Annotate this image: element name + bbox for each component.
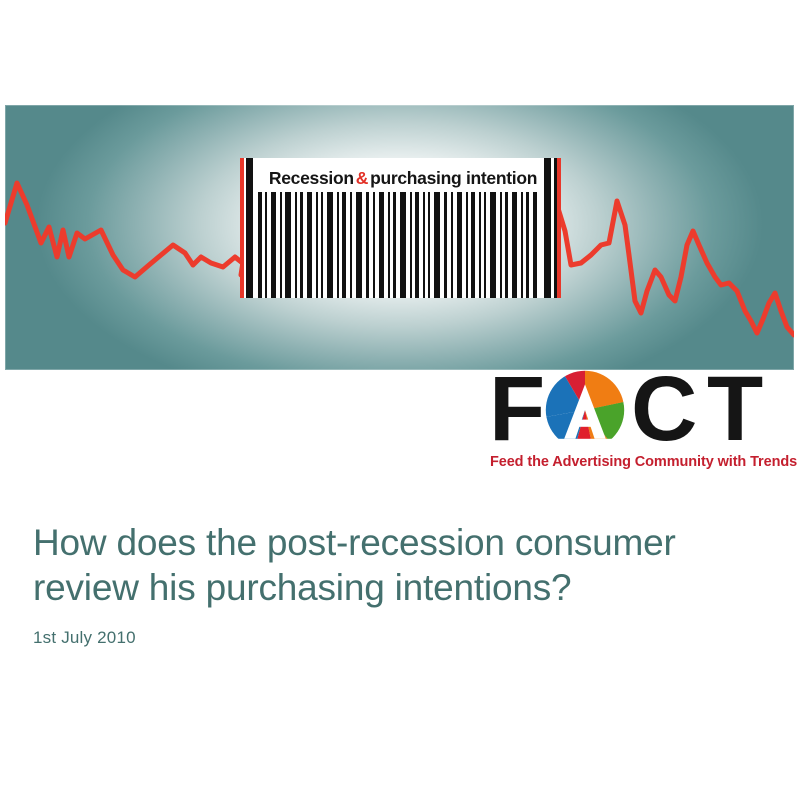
- logo-letter-t: T: [707, 366, 760, 452]
- title-block: How does the post-recession consumer rev…: [33, 520, 773, 648]
- fact-logo-wordmark: F: [487, 366, 795, 452]
- page-title: How does the post-recession consumer rev…: [33, 520, 773, 610]
- logo-letter-f: F: [489, 366, 542, 452]
- line-right-segment: [557, 201, 794, 335]
- barcode-bars: [238, 158, 563, 298]
- fact-logo-tagline: Feed the Advertising Community with Tren…: [490, 454, 797, 470]
- slide-date: 1st July 2010: [33, 628, 773, 648]
- fact-logo: F: [487, 366, 795, 478]
- barcode-graphic: [238, 158, 563, 298]
- logo-letter-c: C: [631, 366, 694, 452]
- logo-a-wedges: [543, 370, 627, 450]
- slide-canvas: Recession & purchasing intention F: [0, 0, 800, 800]
- logo-letter-a-icon: [543, 370, 627, 450]
- line-left-segment: [5, 183, 249, 277]
